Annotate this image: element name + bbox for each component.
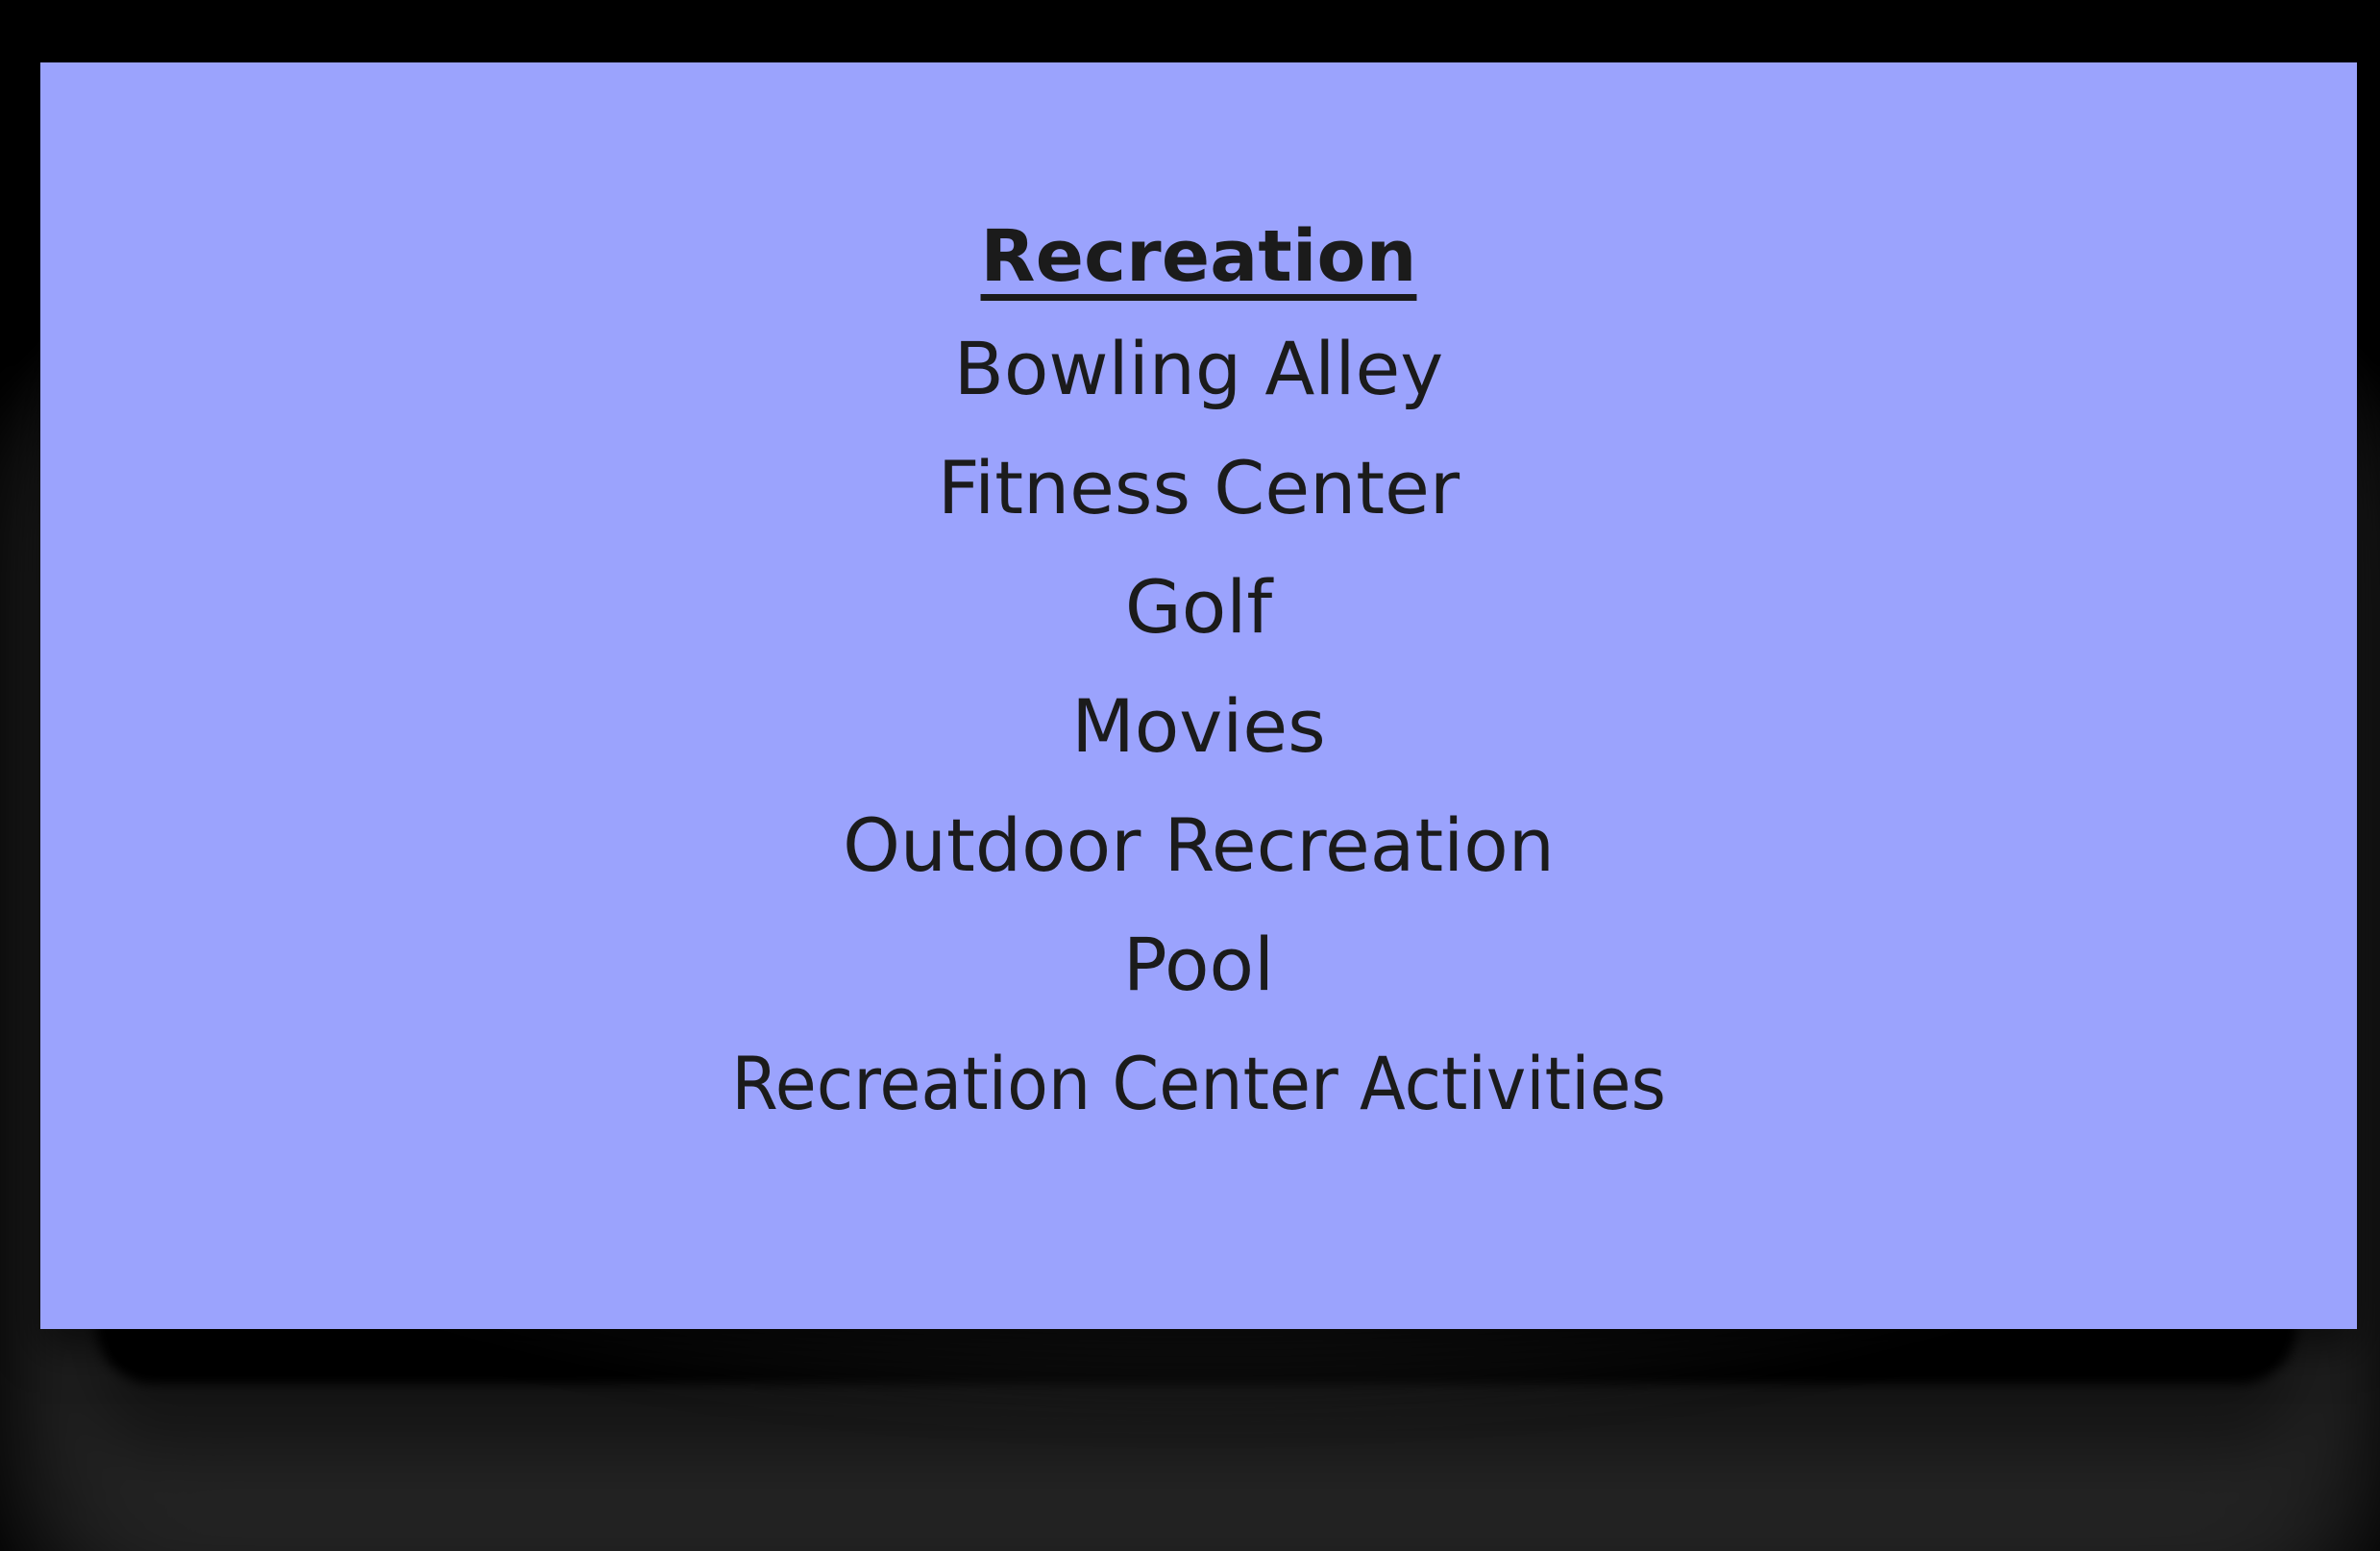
slide-stage: Recreation Bowling Alley Fitness Center … (0, 0, 2380, 1551)
recreation-item-list: Bowling Alley Fitness Center Golf Movies… (40, 332, 2357, 1120)
list-item-recreation-center-activities[interactable]: Recreation Center Activities (731, 1047, 1666, 1120)
list-item-bowling-alley[interactable]: Bowling Alley (954, 332, 1444, 406)
page-title: Recreation (981, 221, 1417, 292)
recreation-card: Recreation Bowling Alley Fitness Center … (40, 62, 2357, 1329)
list-item-golf[interactable]: Golf (1125, 571, 1272, 644)
list-item-movies[interactable]: Movies (1071, 690, 1326, 763)
list-item-fitness-center[interactable]: Fitness Center (938, 452, 1460, 525)
list-item-outdoor-recreation[interactable]: Outdoor Recreation (843, 809, 1555, 882)
list-item-pool[interactable]: Pool (1123, 928, 1274, 1001)
